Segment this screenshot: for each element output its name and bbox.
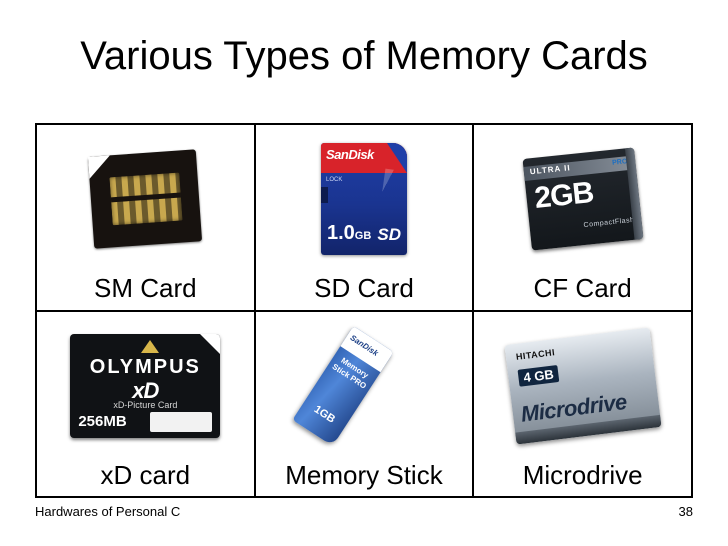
table-cell-microdrive: HITACHI 4 GB Microdrive Microdrive <box>473 311 692 498</box>
card-label-xd: xD card <box>37 460 254 496</box>
page-title: Various Types of Memory Cards <box>0 34 728 79</box>
cell-inner: OLYMPUS xD xD-Picture Card 256MB xD card <box>37 312 254 497</box>
memory-cards-table: SM Card SanDisk LOCK 1.0GB SD <box>35 123 693 498</box>
xd-picture-card-photo: OLYMPUS xD xD-Picture Card 256MB <box>37 312 254 460</box>
table-row: OLYMPUS xD xD-Picture Card 256MB xD card <box>36 311 692 498</box>
table-cell-sm-card: SM Card <box>36 124 255 311</box>
xd-capacity-label: 256MB <box>78 413 126 430</box>
cell-inner: ULTRA II PRO 2GB CompactFlash CF Card <box>474 125 691 310</box>
cf-connector-edge <box>625 147 644 239</box>
microdrive-photo: HITACHI 4 GB Microdrive <box>474 312 691 460</box>
table-cell-xd-card: OLYMPUS xD xD-Picture Card 256MB xD card <box>36 311 255 498</box>
page-number: 38 <box>679 504 693 519</box>
card-label-sd: SD Card <box>256 273 473 309</box>
sd-logo: SD <box>377 225 401 245</box>
cf-card-graphic: ULTRA II PRO 2GB CompactFlash <box>522 147 643 250</box>
cell-inner: SanDisk Memory Stick PRO 1GB Memory Stic… <box>256 312 473 497</box>
card-label-memory-stick: Memory Stick <box>256 460 473 496</box>
table-cell-memory-stick: SanDisk Memory Stick PRO 1GB Memory Stic… <box>255 311 474 498</box>
cell-inner: HITACHI 4 GB Microdrive Microdrive <box>474 312 691 497</box>
compactflash-card-photo: ULTRA II PRO 2GB CompactFlash <box>474 125 691 273</box>
table-cell-sd-card: SanDisk LOCK 1.0GB SD SD Card <box>255 124 474 311</box>
xd-card-graphic: OLYMPUS xD xD-Picture Card 256MB <box>70 334 220 438</box>
memory-stick-photo: SanDisk Memory Stick PRO 1GB <box>256 312 473 460</box>
microdrive-brand-label: HITACHI <box>515 347 555 362</box>
microdrive-graphic: HITACHI 4 GB Microdrive <box>504 327 661 444</box>
cf-capacity-label: 2GB <box>533 178 595 214</box>
cf-format-label: CompactFlash <box>583 217 635 229</box>
memory-stick-graphic-wrap: SanDisk Memory Stick PRO 1GB <box>289 326 439 446</box>
table-row: SM Card SanDisk LOCK 1.0GB SD <box>36 124 692 311</box>
memory-stick-capacity-label: 1GB <box>303 397 346 431</box>
table-cell-cf-card: ULTRA II PRO 2GB CompactFlash CF Card <box>473 124 692 311</box>
cell-inner: SanDisk LOCK 1.0GB SD SD Card <box>256 125 473 310</box>
slide-footer: Hardwares of Personal C 38 <box>35 502 693 524</box>
slide: Various Types of Memory Cards SM Card <box>0 0 728 546</box>
sd-brand-label: SanDisk <box>326 147 374 162</box>
xd-subtitle-label: xD-Picture Card <box>70 400 220 410</box>
sd-card-graphic: SanDisk LOCK 1.0GB SD <box>321 143 407 255</box>
xd-write-area <box>150 412 212 432</box>
memory-stick-graphic: SanDisk Memory Stick PRO 1GB <box>292 325 393 445</box>
microdrive-capacity-label: 4 GB <box>517 364 559 386</box>
card-label-cf: CF Card <box>474 273 691 309</box>
card-label-microdrive: Microdrive <box>474 460 691 496</box>
card-label-sm: SM Card <box>37 273 254 309</box>
sd-capacity-label: 1.0GB <box>327 222 371 245</box>
sd-lock-label: LOCK <box>326 177 342 183</box>
sd-capacity-unit: GB <box>355 230 372 242</box>
sd-write-protect-switch <box>321 187 328 203</box>
cell-inner: SM Card <box>37 125 254 310</box>
sm-contact-pad <box>110 173 183 226</box>
sm-card-graphic <box>88 149 202 248</box>
xd-brand-label: OLYMPUS <box>70 356 220 379</box>
sd-card-photo: SanDisk LOCK 1.0GB SD <box>256 125 473 273</box>
olympus-triangle-icon <box>141 340 159 353</box>
smartmedia-card-photo <box>37 125 254 273</box>
sd-capacity-value: 1.0 <box>327 222 355 244</box>
footer-text: Hardwares of Personal C <box>35 504 180 519</box>
